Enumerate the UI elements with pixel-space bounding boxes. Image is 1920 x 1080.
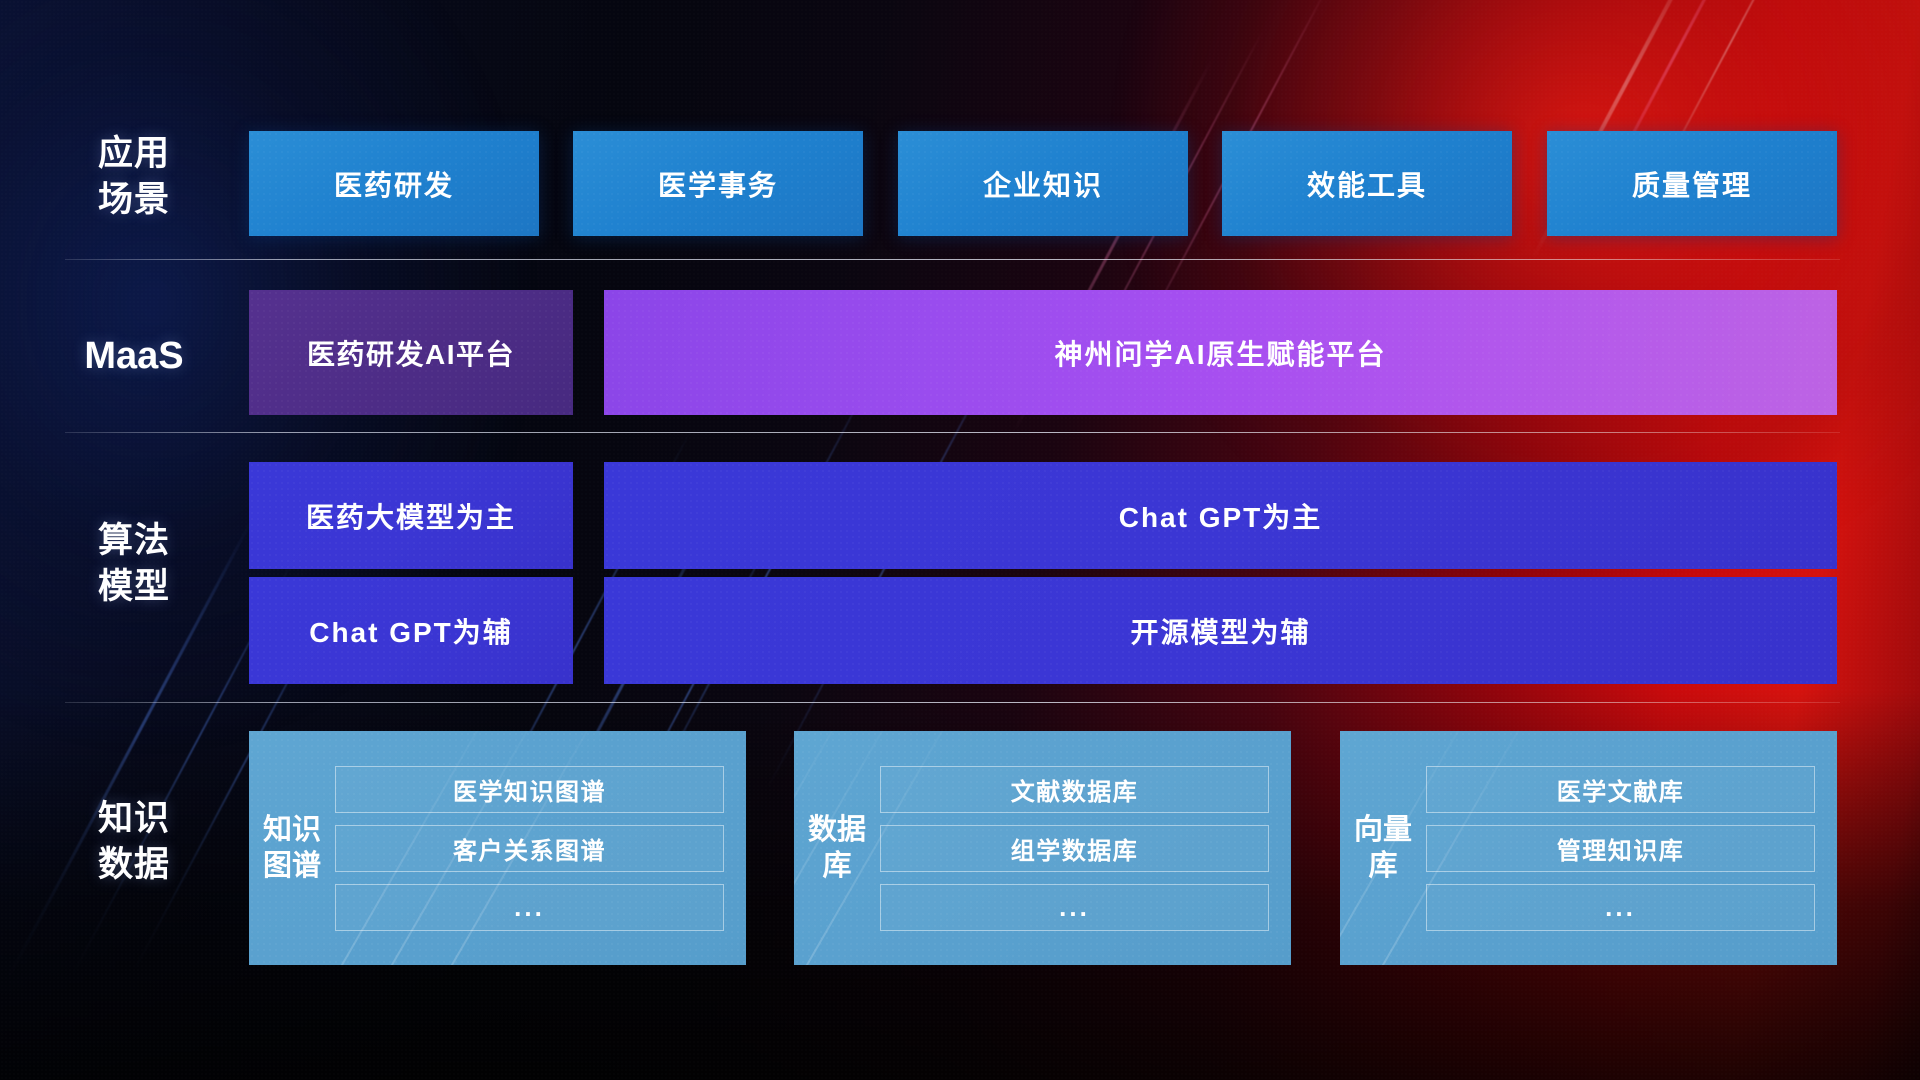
row-label-application-line1: 应用 xyxy=(70,131,198,177)
row-label-knowledge-line2: 数据 xyxy=(70,842,198,888)
app-card-3-label: 效能工具 xyxy=(1307,164,1427,204)
knowledge-panel-0-item-1[interactable]: 客户关系图谱 xyxy=(335,825,724,872)
row-label-algorithm-line2: 模型 xyxy=(70,564,198,610)
knowledge-panel-1-items: 文献数据库 组学数据库 ... xyxy=(866,731,1291,965)
app-card-0-label: 医药研发 xyxy=(334,164,454,204)
knowledge-panel-2-item-2[interactable]: ... xyxy=(1426,884,1815,931)
row-label-maas-text: MaaS xyxy=(70,333,198,379)
knowledge-panel-2[interactable]: 向量库 医学文献库 管理知识库 ... xyxy=(1340,731,1837,965)
app-card-2[interactable]: 企业知识 xyxy=(898,131,1188,236)
maas-card-shenzhou-wenxue-platform[interactable]: 神州问学AI原生赋能平台 xyxy=(604,290,1837,415)
knowledge-panel-2-title: 向量库 xyxy=(1340,731,1412,965)
knowledge-panel-1-item-1[interactable]: 组学数据库 xyxy=(880,825,1269,872)
algo-card-0-left[interactable]: 医药大模型为主 xyxy=(249,462,573,569)
algo-card-1-left-label: Chat GPT为辅 xyxy=(309,611,513,651)
row-label-knowledge: 知识 数据 xyxy=(70,796,198,888)
algo-card-1-right[interactable]: 开源模型为辅 xyxy=(604,577,1837,684)
knowledge-panel-1[interactable]: 数据库 文献数据库 组学数据库 ... xyxy=(794,731,1291,965)
row-label-maas: MaaS xyxy=(70,333,198,379)
knowledge-panel-0-item-0[interactable]: 医学知识图谱 xyxy=(335,766,724,813)
app-card-4[interactable]: 质量管理 xyxy=(1547,131,1837,236)
knowledge-panel-1-title: 数据库 xyxy=(794,731,866,965)
knowledge-panel-2-items: 医学文献库 管理知识库 ... xyxy=(1412,731,1837,965)
algo-card-0-left-label: 医药大模型为主 xyxy=(306,496,516,536)
architecture-diagram: 应用 场景 医药研发 医学事务 企业知识 效能工具 质量管理 MaaS 医药研发… xyxy=(0,0,1920,1080)
knowledge-panel-2-item-0[interactable]: 医学文献库 xyxy=(1426,766,1815,813)
algo-card-1-left[interactable]: Chat GPT为辅 xyxy=(249,577,573,684)
app-card-0[interactable]: 医药研发 xyxy=(249,131,539,236)
row-label-algorithm-line1: 算法 xyxy=(70,518,198,564)
knowledge-panel-0-items: 医学知识图谱 客户关系图谱 ... xyxy=(321,731,746,965)
algo-card-0-right[interactable]: Chat GPT为主 xyxy=(604,462,1837,569)
knowledge-panel-1-item-0[interactable]: 文献数据库 xyxy=(880,766,1269,813)
algo-card-0-right-label: Chat GPT为主 xyxy=(1119,496,1323,536)
app-card-1-label: 医学事务 xyxy=(658,164,778,204)
divider-application-maas xyxy=(65,259,1840,260)
algo-card-1-right-label: 开源模型为辅 xyxy=(1130,611,1310,651)
maas-card-shenzhou-wenxue-platform-label: 神州问学AI原生赋能平台 xyxy=(1054,333,1386,373)
app-card-1[interactable]: 医学事务 xyxy=(573,131,863,236)
divider-algorithm-knowledge xyxy=(65,702,1840,703)
app-card-2-label: 企业知识 xyxy=(983,164,1103,204)
knowledge-panel-0[interactable]: 知识图谱 医学知识图谱 客户关系图谱 ... xyxy=(249,731,746,965)
row-label-knowledge-line1: 知识 xyxy=(70,796,198,842)
divider-maas-algorithm xyxy=(65,432,1840,433)
knowledge-panel-0-item-2[interactable]: ... xyxy=(335,884,724,931)
knowledge-panel-2-item-1[interactable]: 管理知识库 xyxy=(1426,825,1815,872)
maas-card-pharma-ai-platform[interactable]: 医药研发AI平台 xyxy=(249,290,573,415)
row-label-application-line2: 场景 xyxy=(70,177,198,223)
app-card-4-label: 质量管理 xyxy=(1632,164,1752,204)
maas-card-pharma-ai-platform-label: 医药研发AI平台 xyxy=(307,333,515,373)
app-card-3[interactable]: 效能工具 xyxy=(1222,131,1512,236)
knowledge-panel-1-item-2[interactable]: ... xyxy=(880,884,1269,931)
knowledge-panel-0-title: 知识图谱 xyxy=(249,731,321,965)
row-label-application: 应用 场景 xyxy=(70,131,198,223)
row-label-algorithm: 算法 模型 xyxy=(70,518,198,610)
